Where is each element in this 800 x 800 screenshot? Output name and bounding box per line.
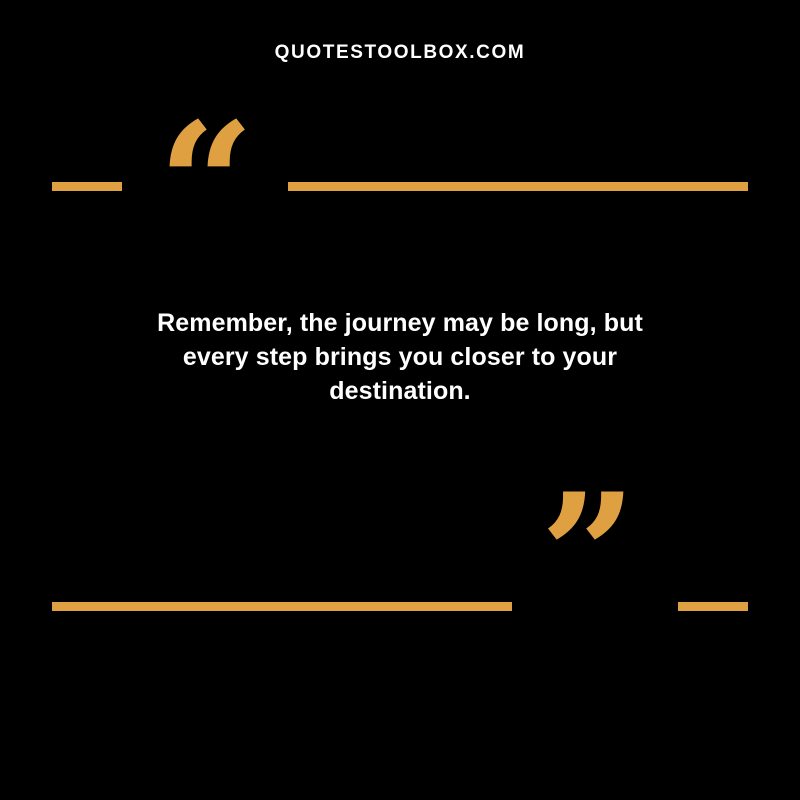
top-short-rule-icon bbox=[52, 182, 122, 191]
bottom-short-rule-icon bbox=[678, 602, 748, 611]
quote-line-2: every step brings you closer to your bbox=[120, 340, 680, 374]
bottom-long-rule-icon bbox=[52, 602, 512, 611]
close-quote-icon: ” bbox=[540, 471, 631, 639]
site-header: QUOTESTOOLBOX.COM bbox=[0, 42, 800, 64]
brand-name: QUOTESTOOLBOX.COM bbox=[275, 42, 526, 64]
quote-card: QUOTESTOOLBOX.COM “ Remember, the journe… bbox=[0, 0, 800, 800]
ornament-top: “ bbox=[0, 148, 800, 228]
quote-line-1: Remember, the journey may be long, but bbox=[120, 306, 680, 340]
quote-text: Remember, the journey may be long, but e… bbox=[120, 306, 680, 408]
quote-line-3: destination. bbox=[120, 374, 680, 408]
open-quote-icon: “ bbox=[158, 100, 249, 268]
ornament-bottom: ” bbox=[0, 571, 800, 651]
top-long-rule-icon bbox=[288, 182, 748, 191]
